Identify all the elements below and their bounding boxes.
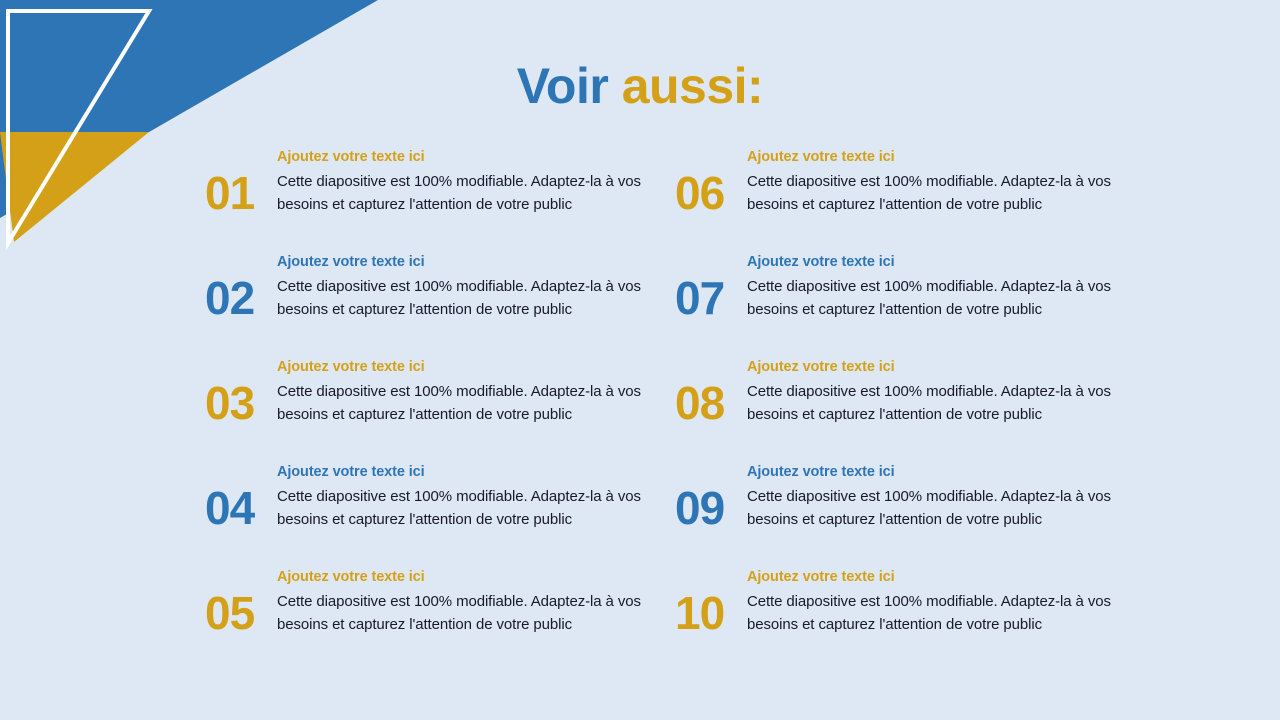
list-item-text: Cette diapositive est 100% modifiable. A… <box>277 171 675 217</box>
list-item-text: Cette diapositive est 100% modifiable. A… <box>747 486 1145 532</box>
list-item-text: Cette diapositive est 100% modifiable. A… <box>747 381 1145 427</box>
page-title-part-primary: Voir <box>517 58 622 114</box>
list-item[interactable]: 10 Ajoutez votre texte ici Cette diaposi… <box>675 564 1145 669</box>
list-column-left: 01 Ajoutez votre texte ici Cette diaposi… <box>205 144 675 669</box>
list-item-heading: Ajoutez votre texte ici <box>277 358 675 376</box>
list-item-text: Cette diapositive est 100% modifiable. A… <box>747 171 1145 217</box>
list-item-heading: Ajoutez votre texte ici <box>277 568 675 586</box>
list-item-body: Ajoutez votre texte ici Cette diapositiv… <box>747 144 1145 217</box>
list-item-text: Cette diapositive est 100% modifiable. A… <box>277 381 675 427</box>
list-column-right: 06 Ajoutez votre texte ici Cette diaposi… <box>675 144 1145 669</box>
list-item-heading: Ajoutez votre texte ici <box>747 568 1145 586</box>
list-item-heading: Ajoutez votre texte ici <box>277 253 675 271</box>
list-item-text: Cette diapositive est 100% modifiable. A… <box>747 276 1145 322</box>
list-item-body: Ajoutez votre texte ici Cette diapositiv… <box>747 459 1145 532</box>
list-item-text: Cette diapositive est 100% modifiable. A… <box>747 591 1145 637</box>
list-item-number: 10 <box>675 564 747 636</box>
list-item-text: Cette diapositive est 100% modifiable. A… <box>277 486 675 532</box>
list-item[interactable]: 04 Ajoutez votre texte ici Cette diaposi… <box>205 459 675 564</box>
list-item-body: Ajoutez votre texte ici Cette diapositiv… <box>277 354 675 427</box>
list-item-body: Ajoutez votre texte ici Cette diapositiv… <box>277 459 675 532</box>
list-item[interactable]: 09 Ajoutez votre texte ici Cette diaposi… <box>675 459 1145 564</box>
list-item-text: Cette diapositive est 100% modifiable. A… <box>277 276 675 322</box>
list-item-number: 03 <box>205 354 277 426</box>
list-item-heading: Ajoutez votre texte ici <box>747 358 1145 376</box>
list-item-body: Ajoutez votre texte ici Cette diapositiv… <box>277 249 675 322</box>
list-item-heading: Ajoutez votre texte ici <box>747 463 1145 481</box>
list-item-number: 09 <box>675 459 747 531</box>
list-item-body: Ajoutez votre texte ici Cette diapositiv… <box>747 564 1145 637</box>
list-item-number: 02 <box>205 249 277 321</box>
list-item-body: Ajoutez votre texte ici Cette diapositiv… <box>747 354 1145 427</box>
list-item[interactable]: 06 Ajoutez votre texte ici Cette diaposi… <box>675 144 1145 249</box>
list-item-heading: Ajoutez votre texte ici <box>277 148 675 166</box>
page-title: Voir aussi: <box>0 58 1280 116</box>
list-item-heading: Ajoutez votre texte ici <box>747 253 1145 271</box>
list-item-body: Ajoutez votre texte ici Cette diapositiv… <box>747 249 1145 322</box>
list-item-body: Ajoutez votre texte ici Cette diapositiv… <box>277 564 675 637</box>
list-item[interactable]: 07 Ajoutez votre texte ici Cette diaposi… <box>675 249 1145 354</box>
page-title-part-accent: aussi: <box>622 58 764 114</box>
list-item[interactable]: 05 Ajoutez votre texte ici Cette diaposi… <box>205 564 675 669</box>
list-item-heading: Ajoutez votre texte ici <box>277 463 675 481</box>
list-item-number: 08 <box>675 354 747 426</box>
list-item[interactable]: 08 Ajoutez votre texte ici Cette diaposi… <box>675 354 1145 459</box>
list-item-number: 06 <box>675 144 747 216</box>
slide-canvas: Voir aussi: 01 Ajoutez votre texte ici C… <box>0 0 1280 720</box>
list-item[interactable]: 02 Ajoutez votre texte ici Cette diaposi… <box>205 249 675 354</box>
list-item[interactable]: 01 Ajoutez votre texte ici Cette diaposi… <box>205 144 675 249</box>
list-item-number: 05 <box>205 564 277 636</box>
list-item-number: 07 <box>675 249 747 321</box>
list-item[interactable]: 03 Ajoutez votre texte ici Cette diaposi… <box>205 354 675 459</box>
list-item-heading: Ajoutez votre texte ici <box>747 148 1145 166</box>
list-item-number: 04 <box>205 459 277 531</box>
content-area: 01 Ajoutez votre texte ici Cette diaposi… <box>0 144 1280 669</box>
list-item-number: 01 <box>205 144 277 216</box>
list-item-text: Cette diapositive est 100% modifiable. A… <box>277 591 675 637</box>
list-item-body: Ajoutez votre texte ici Cette diapositiv… <box>277 144 675 217</box>
